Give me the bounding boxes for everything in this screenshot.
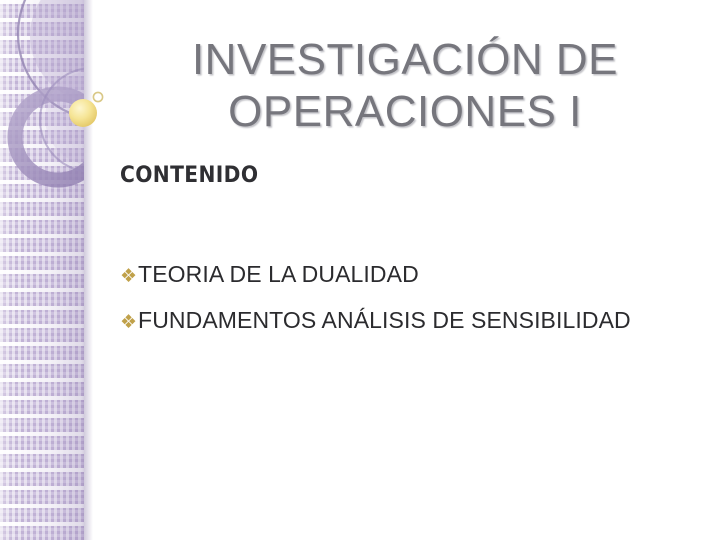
content-heading: CONTENIDO xyxy=(120,163,258,188)
list-item-label: TEORIA DE LA DUALIDAD xyxy=(138,263,419,286)
presentation-slide: INVESTIGACIÓN DE OPERACIONES I CONTENIDO… xyxy=(0,0,720,540)
list-item: ❖ TEORIA DE LA DUALIDAD xyxy=(120,263,700,286)
small-gold-ring-icon xyxy=(93,92,102,101)
slide-title: INVESTIGACIÓN DE OPERACIONES I xyxy=(110,34,700,138)
diamond-bullet-icon: ❖ xyxy=(120,313,137,332)
bullet-list: ❖ TEORIA DE LA DUALIDAD ❖ FUNDAMENTOS AN… xyxy=(120,263,700,355)
gold-sphere-icon xyxy=(69,99,97,127)
diamond-bullet-icon: ❖ xyxy=(120,267,137,286)
list-item: ❖ FUNDAMENTOS ANÁLISIS DE SENSIBILIDAD xyxy=(120,309,700,332)
list-item-label: FUNDAMENTOS ANÁLISIS DE SENSIBILIDAD xyxy=(138,309,631,332)
